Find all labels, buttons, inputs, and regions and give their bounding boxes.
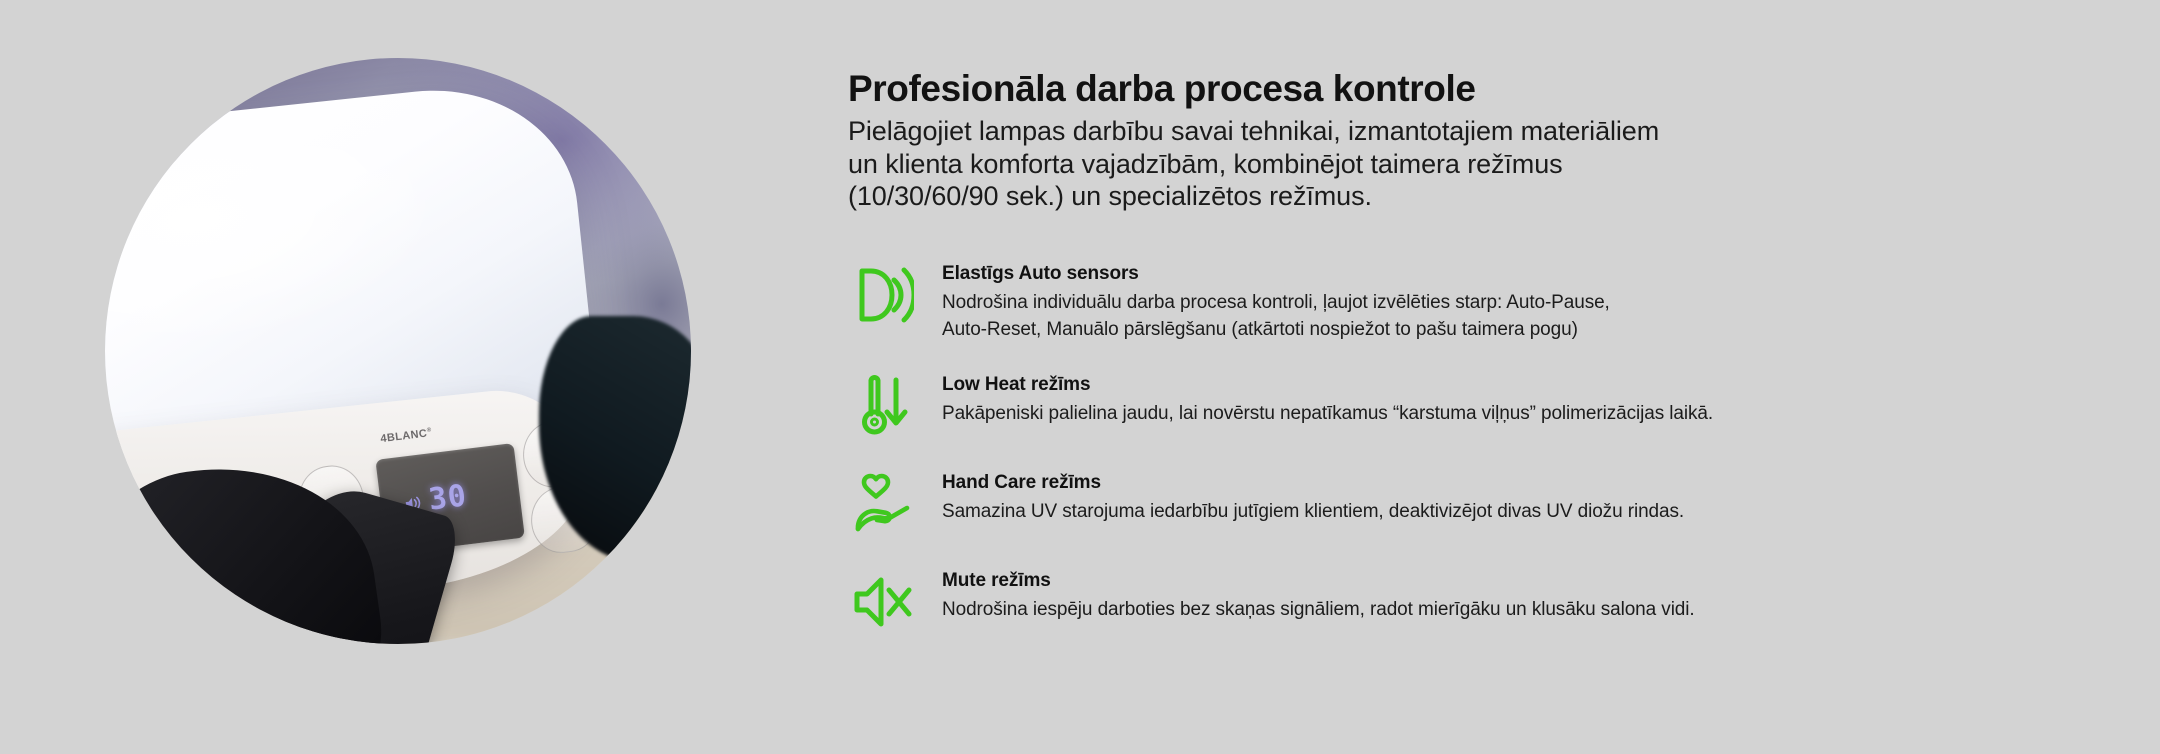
feature-description: Nodrošina iespēju darboties bez skaņas s… (942, 597, 1695, 624)
feature-description: Nodrošina individuālu darba procesa kont… (942, 290, 1610, 344)
page-title: Profesionāla darba procesa kontrole (848, 68, 2078, 109)
feature-description-line: Auto-Reset, Manuālo pārslēgšanu (atkārto… (942, 317, 1610, 344)
sound-waves-icon (848, 259, 920, 331)
subtitle-line: un klienta komforta vajadzībām, kombinēj… (848, 148, 2078, 180)
feature-text: Mute režīms Nodrošina iespēju darboties … (942, 566, 1695, 624)
thermometer-down-arrow-icon (848, 370, 920, 442)
subtitle-line: (10/30/60/90 sek.) un specializētos režī… (848, 180, 2078, 212)
content-column: Profesionāla darba procesa kontrole Piel… (848, 68, 2078, 638)
product-photo: 4BLANC® 30 10 (105, 58, 691, 644)
feature-title: Hand Care režīms (942, 472, 1684, 494)
feature-description-line: Samazina UV starojuma iedarbību jutīgiem… (942, 499, 1684, 526)
feature-item-low-heat: Low Heat režīms Pakāpeniski palielina ja… (848, 370, 2078, 442)
brand-trademark-mark: ® (426, 427, 432, 434)
feature-title: Elastīgs Auto sensors (942, 263, 1610, 285)
page-subtitle: Pielāgojiet lampas darbību savai tehnika… (848, 115, 2078, 212)
subtitle-line: Pielāgojiet lampas darbību savai tehnika… (848, 115, 2078, 147)
brand-logo: 4BLANC® (380, 427, 433, 445)
hand-heart-icon (848, 468, 920, 540)
feature-description-line: Nodrošina individuālu darba procesa kont… (942, 290, 1610, 317)
feature-title: Mute režīms (942, 570, 1695, 592)
promo-banner: 4BLANC® 30 10 (0, 0, 2160, 754)
speaker-mute-icon (848, 566, 920, 638)
feature-description: Samazina UV starojuma iedarbību jutīgiem… (942, 499, 1684, 526)
feature-list: Elastīgs Auto sensors Nodrošina individu… (848, 259, 2078, 638)
feature-description: Pakāpeniski palielina jaudu, lai novērst… (942, 401, 1713, 428)
feature-text: Elastīgs Auto sensors Nodrošina individu… (942, 259, 1610, 344)
feature-text: Low Heat režīms Pakāpeniski palielina ja… (942, 370, 1713, 428)
feature-description-line: Pakāpeniski palielina jaudu, lai novērst… (942, 401, 1713, 428)
feature-item-mute: Mute režīms Nodrošina iespēju darboties … (848, 566, 2078, 638)
photo-backdrop: 4BLANC® 30 10 (105, 58, 691, 644)
feature-description-line: Nodrošina iespēju darboties bez skaņas s… (942, 597, 1695, 624)
feature-title: Low Heat režīms (942, 374, 1713, 396)
feature-item-hand-care: Hand Care režīms Samazina UV starojuma i… (848, 468, 2078, 540)
feature-text: Hand Care režīms Samazina UV starojuma i… (942, 468, 1684, 526)
lcd-timer-value: 30 (427, 482, 468, 516)
feature-item-auto-sensors: Elastīgs Auto sensors Nodrošina individu… (848, 259, 2078, 344)
brand-logo-text: 4BLANC (380, 427, 428, 445)
